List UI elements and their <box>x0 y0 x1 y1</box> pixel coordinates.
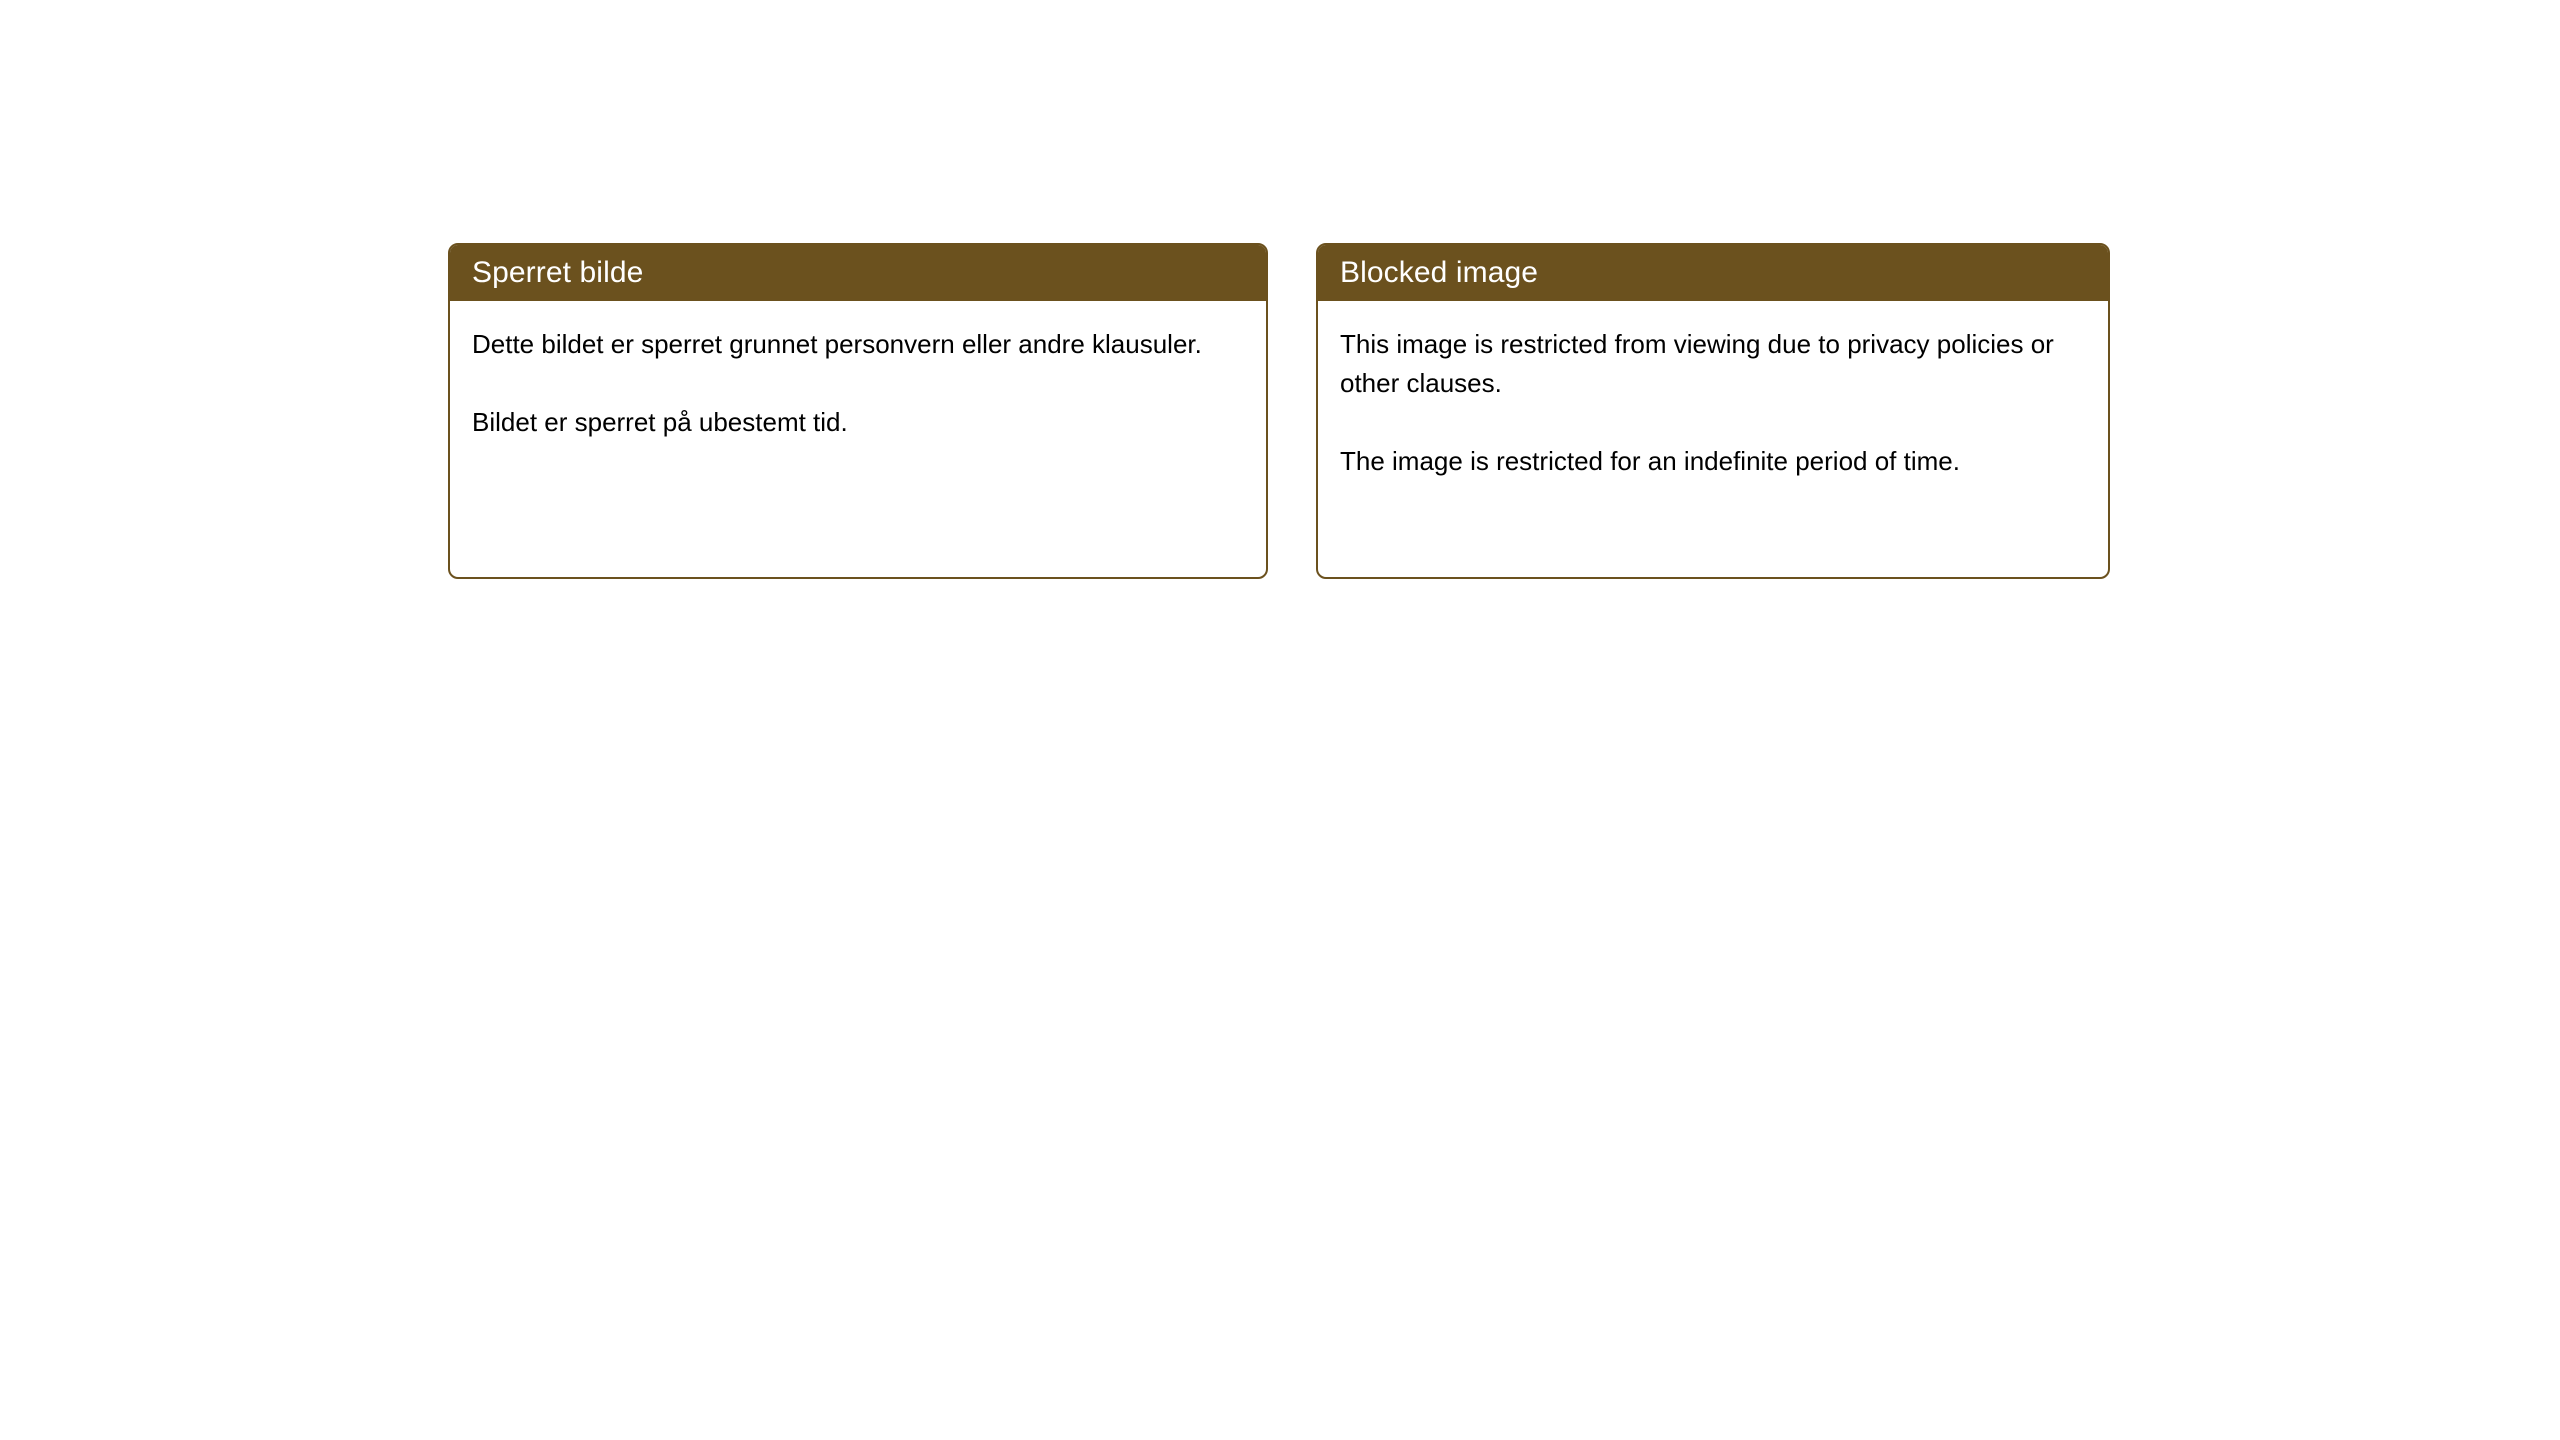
blocked-image-card-english: Blocked image This image is restricted f… <box>1316 243 2110 579</box>
card-paragraph-reason-norwegian: Dette bildet er sperret grunnet personve… <box>472 325 1244 364</box>
card-paragraph-duration-english: The image is restricted for an indefinit… <box>1340 442 2086 481</box>
card-body-norwegian: Dette bildet er sperret grunnet personve… <box>450 301 1266 442</box>
card-header-english: Blocked image <box>1318 245 2108 301</box>
card-title-english: Blocked image <box>1340 258 1538 288</box>
card-body-english: This image is restricted from viewing du… <box>1318 301 2108 481</box>
blocked-image-card-norwegian: Sperret bilde Dette bildet er sperret gr… <box>448 243 1268 579</box>
page-canvas: Sperret bilde Dette bildet er sperret gr… <box>0 0 2560 1440</box>
card-header-norwegian: Sperret bilde <box>450 245 1266 301</box>
card-paragraph-duration-norwegian: Bildet er sperret på ubestemt tid. <box>472 403 1244 442</box>
card-title-norwegian: Sperret bilde <box>472 258 643 288</box>
card-paragraph-reason-english: This image is restricted from viewing du… <box>1340 325 2086 403</box>
